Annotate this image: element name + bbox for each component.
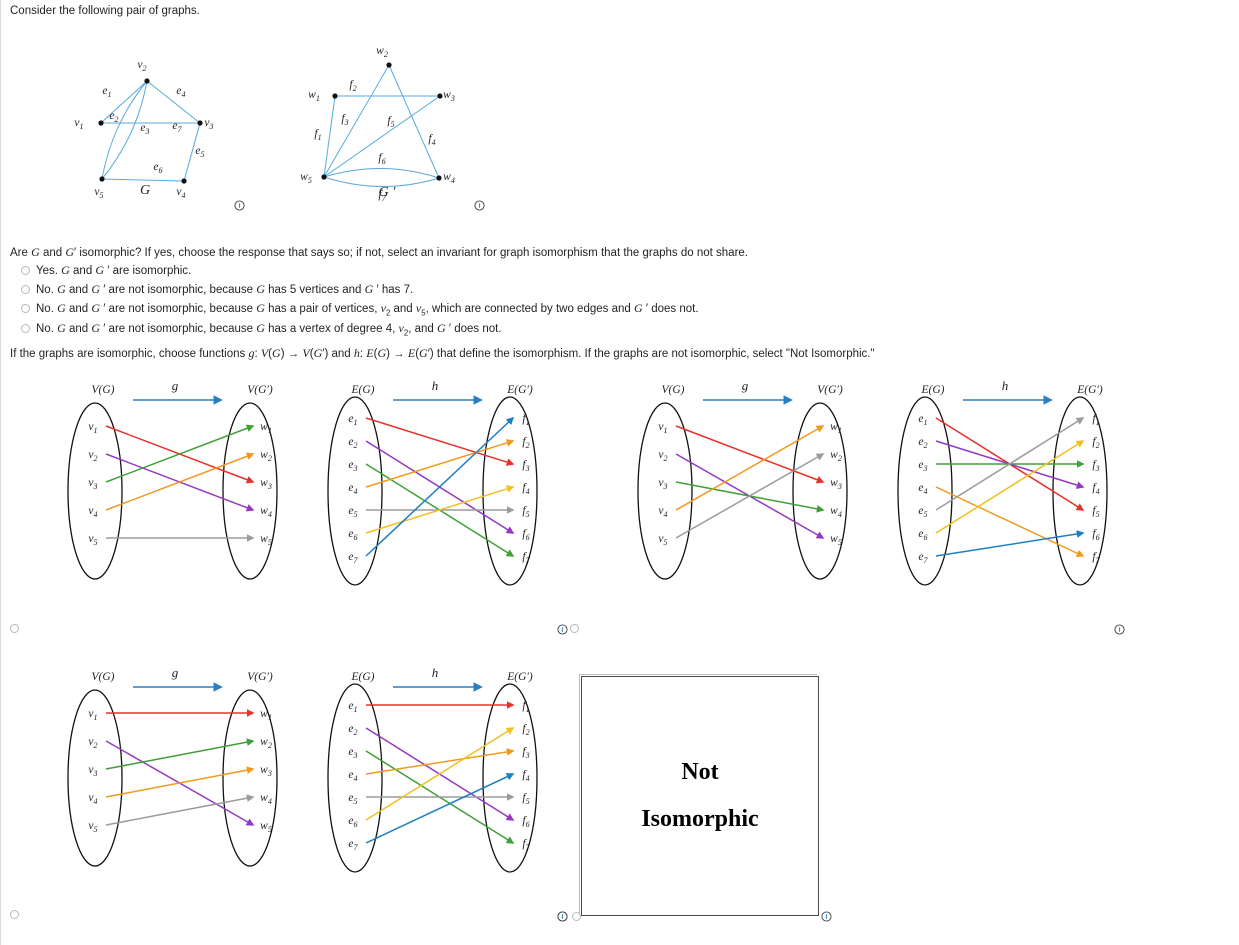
graph-vertex-label-w2: w2 xyxy=(376,45,388,59)
graph-edge-label-f4: f4 xyxy=(428,133,435,147)
mapping-right-item-w4: w4 xyxy=(830,505,842,519)
answer-option-vertex-count-label: No. G and G ′ are not isomorphic, becaus… xyxy=(36,284,413,296)
mapping-right-item-f3: f3 xyxy=(1092,459,1099,473)
radio-button-icon-degree-four[interactable] xyxy=(21,324,30,333)
answer-option-degree-four[interactable]: No. G and G ′ are not isomorphic, becaus… xyxy=(21,321,502,337)
mapping-arrow-e6-to-f2 xyxy=(936,441,1083,533)
mapping-left-item-v5: v5 xyxy=(658,533,667,547)
mapping-right-item-f3: f3 xyxy=(522,459,529,473)
mapping-arrow-e4-to-f3 xyxy=(366,751,513,774)
graph-vertex-v4 xyxy=(181,178,186,183)
mapping-function-label: h xyxy=(1002,378,1009,393)
answer-option-degree-four-label: No. G and G ′ are not isomorphic, becaus… xyxy=(36,323,502,335)
graph-vertex-v3 xyxy=(197,120,202,125)
mapping-right-item-f5: f5 xyxy=(522,505,529,519)
mapping-left-title: V(G) xyxy=(662,384,685,396)
graph-vertex-w4 xyxy=(436,175,441,180)
graph-edge-label-f5: f5 xyxy=(387,115,394,129)
graph-vertex-w3 xyxy=(437,93,442,98)
mapping-left-item-v1: v1 xyxy=(88,421,97,435)
graph-edge-label-e3: e3 xyxy=(140,122,149,136)
radio-button-icon-choice-b[interactable] xyxy=(570,620,579,638)
mapping-arrow-e4-to-f7 xyxy=(936,487,1083,556)
mapping-right-title: V(G′) xyxy=(817,384,843,396)
graph-edge-label-e6: e6 xyxy=(153,161,162,175)
radio-button-icon-choice-c[interactable] xyxy=(10,906,19,924)
graph-edge-label-f3: f3 xyxy=(341,113,348,127)
radio-button-icon-not-isomorphic[interactable] xyxy=(572,908,581,926)
mapping-right-item-w4: w4 xyxy=(260,505,272,519)
mapping-arrow-e4-to-f2 xyxy=(366,441,513,487)
graph-vertex-w5 xyxy=(321,174,326,179)
mapping-left-item-v2: v2 xyxy=(658,449,667,463)
radio-button-icon-yes[interactable] xyxy=(21,266,30,275)
info-circle-icon-graph-gprime[interactable] xyxy=(474,197,485,215)
notiso-box-shadow-top xyxy=(579,674,817,675)
mapping-arrow-v3-to-w2 xyxy=(106,741,253,769)
mapping-arrow-v5-to-w4 xyxy=(106,797,253,825)
mapping-right-item-w2: w2 xyxy=(260,449,272,463)
not-isomorphic-line1: Not xyxy=(681,749,718,796)
mapping-left-item-e6: e6 xyxy=(348,528,357,542)
answer-option-yes-label: Yes. G and G ′ are isomorphic. xyxy=(36,265,191,277)
mapping-function-label: h xyxy=(432,665,439,680)
mapping-left-item-v3: v3 xyxy=(88,764,97,778)
choice-b-vertex-mapping[interactable]: V(G)V(G′)gv1w1v2w2v3w3v4w4v5w5 xyxy=(605,378,875,603)
graph-vertex-label-w1: w1 xyxy=(308,89,320,103)
graph-vertex-label-v1: v1 xyxy=(74,117,83,131)
graph-caption: G xyxy=(140,183,150,198)
mapping-right-title: E(G′) xyxy=(1076,384,1103,396)
mapping-right-item-w3: w3 xyxy=(260,477,272,491)
mapping-arrow-v4-to-w1 xyxy=(676,426,823,510)
mapping-left-item-e4: e4 xyxy=(348,482,357,496)
mapping-left-title: V(G) xyxy=(92,671,115,683)
radio-button-icon-vertex-count[interactable] xyxy=(21,285,30,294)
mapping-right-item-f6: f6 xyxy=(1092,528,1099,542)
info-circle-icon-not-isomorphic-right[interactable] xyxy=(821,908,832,926)
graph-vertex-w2 xyxy=(386,62,391,67)
graph-edge-f4 xyxy=(389,65,439,178)
mapping-right-item-w5: w5 xyxy=(830,533,842,547)
graph-edge-label-e7: e7 xyxy=(172,120,182,134)
mapping-function-label: h xyxy=(432,378,439,393)
mapping-left-item-v1: v1 xyxy=(88,708,97,722)
mapping-left-title: E(G) xyxy=(351,384,375,396)
choice-b-edge-mapping[interactable]: E(G)E(G′)he1f1e2f2e3f3e4f4e5f5e6f6e7f7 xyxy=(865,378,1135,603)
mapping-left-item-v1: v1 xyxy=(658,421,667,435)
mapping-arrow-e7-to-f6 xyxy=(936,533,1083,556)
graph-edge-label-e5: e5 xyxy=(195,145,204,159)
graph-edge-e4 xyxy=(147,81,200,123)
mapping-right-item-f7: f7 xyxy=(1092,551,1100,565)
mapping-left-item-e5: e5 xyxy=(918,505,927,519)
mapping-arrow-v4-to-w3 xyxy=(106,769,253,797)
mapping-left-item-v2: v2 xyxy=(88,736,97,750)
radio-button-icon-choice-a[interactable] xyxy=(10,620,19,638)
graph-edge-label-f2: f2 xyxy=(349,79,356,93)
not-isomorphic-line2: Isomorphic xyxy=(641,796,758,843)
mapping-left-item-e3: e3 xyxy=(348,459,357,473)
mapping-left-item-e7: e7 xyxy=(348,838,358,852)
info-circle-icon-not-isomorphic-left[interactable] xyxy=(557,908,568,926)
graph-vertex-label-w5: w5 xyxy=(300,171,312,185)
mapping-right-item-f5: f5 xyxy=(522,792,529,806)
graph-edge-label-e1: e1 xyxy=(102,85,111,99)
choice-c-vertex-mapping[interactable]: V(G)V(G′)gv1w1v2w2v3w3v4w4v5w5 xyxy=(35,665,305,890)
mapping-right-item-f7: f7 xyxy=(522,551,530,565)
instruction-text: If the graphs are isomorphic, choose fun… xyxy=(10,346,875,361)
mapping-left-item-v5: v5 xyxy=(88,820,97,834)
info-circle-icon-choice-a[interactable] xyxy=(557,621,568,639)
graph-vertex-label-v3: v3 xyxy=(204,117,213,131)
mapping-right-item-f2: f2 xyxy=(1092,436,1099,450)
mapping-left-item-e1: e1 xyxy=(918,413,927,427)
choice-a-edge-mapping[interactable]: E(G)E(G′)he1f1e2f2e3f3e4f4e5f5e6f6e7f7 xyxy=(295,378,565,603)
mapping-right-title: E(G′) xyxy=(506,384,533,396)
mapping-left-item-e2: e2 xyxy=(918,436,927,450)
mapping-arrow-e7-to-f1 xyxy=(366,418,513,556)
mapping-left-item-v4: v4 xyxy=(658,505,667,519)
mapping-left-item-v5: v5 xyxy=(88,533,97,547)
mapping-left-item-e1: e1 xyxy=(348,413,357,427)
info-circle-icon-choice-b[interactable] xyxy=(1114,621,1125,639)
graph-vertex-label-v4: v4 xyxy=(176,186,185,200)
mapping-right-item-f2: f2 xyxy=(522,436,529,450)
mapping-right-item-w1: w1 xyxy=(260,708,272,722)
answer-option-yes[interactable]: Yes. G and G ′ are isomorphic. xyxy=(21,263,191,278)
mapping-arrow-e7-to-f4 xyxy=(366,774,513,843)
mapping-right-item-w2: w2 xyxy=(260,736,272,750)
mapping-right-item-f4: f4 xyxy=(1092,482,1099,496)
graph-vertex-label-v2: v2 xyxy=(137,59,146,73)
mapping-left-item-e3: e3 xyxy=(918,459,927,473)
graph-edge-label-f6: f6 xyxy=(378,152,385,166)
mapping-right-item-w1: w1 xyxy=(260,421,272,435)
mapping-left-item-e3: e3 xyxy=(348,746,357,760)
mapping-left-title: E(G) xyxy=(921,384,945,396)
graph-vertex-label-w4: w4 xyxy=(443,171,455,185)
graph-vertex-w1 xyxy=(332,93,337,98)
graph-edge-e1 xyxy=(101,81,147,123)
not-isomorphic-box[interactable]: Not Isomorphic xyxy=(581,676,819,916)
mapping-left-item-v3: v3 xyxy=(658,477,667,491)
mapping-right-item-f4: f4 xyxy=(522,482,529,496)
mapping-right-item-w3: w3 xyxy=(830,477,842,491)
mapping-right-item-f4: f4 xyxy=(522,769,529,783)
mapping-function-label: g xyxy=(742,378,749,393)
choice-a-vertex-mapping[interactable]: V(G)V(G′)gv1w1v2w2v3w3v4w4v5w5 xyxy=(35,378,305,603)
info-circle-icon-graph-g[interactable] xyxy=(234,197,245,215)
mapping-left-item-e2: e2 xyxy=(348,436,357,450)
mapping-right-item-w2: w2 xyxy=(830,449,842,463)
graph-vertex-v2 xyxy=(144,78,149,83)
mapping-left-item-e2: e2 xyxy=(348,723,357,737)
mapping-left-item-e4: e4 xyxy=(348,769,357,783)
mapping-right-title: E(G′) xyxy=(506,671,533,683)
graph-vertex-label-v5: v5 xyxy=(94,186,103,200)
graph-edge-f6 xyxy=(324,168,439,178)
graph-vertex-v5 xyxy=(99,176,104,181)
mapping-right-item-f5: f5 xyxy=(1092,505,1099,519)
mapping-function-label: g xyxy=(172,378,179,393)
mapping-right-title: V(G′) xyxy=(247,384,273,396)
graph-figure-pair: e1e2e3e4e5e6e7v1v2v3v4v5Gf1f2f3f4f5f6f7w… xyxy=(1,18,521,218)
mapping-right-item-w5: w5 xyxy=(260,820,272,834)
mapping-right-item-f6: f6 xyxy=(522,528,529,542)
mapping-right-item-w4: w4 xyxy=(260,792,272,806)
mapping-function-label: g xyxy=(172,665,179,680)
graph-edge-label-e4: e4 xyxy=(176,85,185,99)
mapping-right-item-w5: w5 xyxy=(260,533,272,547)
mapping-right-item-f3: f3 xyxy=(522,746,529,760)
graph-vertex-v1 xyxy=(98,120,103,125)
mapping-left-title: E(G) xyxy=(351,671,375,683)
mapping-right-title: V(G′) xyxy=(247,671,273,683)
answer-option-multi-edge-label: No. G and G ′ are not isomorphic, becaus… xyxy=(36,303,699,315)
mapping-left-title: V(G) xyxy=(92,384,115,396)
mapping-left-item-e6: e6 xyxy=(918,528,927,542)
graph-edge-label-e2: e2 xyxy=(109,110,118,124)
graph-edge-e6 xyxy=(102,179,184,181)
mapping-left-item-e7: e7 xyxy=(918,551,928,565)
graph-edge-label-f1: f1 xyxy=(314,128,321,142)
graph-caption: G ′ xyxy=(379,185,397,200)
choice-c-edge-mapping[interactable]: E(G)E(G′)he1f1e2f2e3f3e4f4e5f5e6f6e7f7 xyxy=(295,665,565,890)
mapping-right-item-w1: w1 xyxy=(830,421,842,435)
mapping-left-item-v4: v4 xyxy=(88,505,97,519)
mapping-arrow-v1-to-w3 xyxy=(676,426,823,482)
mapping-left-item-e5: e5 xyxy=(348,505,357,519)
mapping-right-item-f2: f2 xyxy=(522,723,529,737)
question-text: Are G and G′ isomorphic? If yes, choose … xyxy=(10,245,748,260)
answer-option-multi-edge[interactable]: No. G and G ′ are not isomorphic, becaus… xyxy=(21,301,699,317)
mapping-left-item-e4: e4 xyxy=(918,482,927,496)
graph-edge-f1 xyxy=(324,96,335,177)
mapping-left-item-v3: v3 xyxy=(88,477,97,491)
mapping-right-item-f6: f6 xyxy=(522,815,529,829)
mapping-right-item-f7: f7 xyxy=(522,838,530,852)
answer-option-vertex-count[interactable]: No. G and G ′ are not isomorphic, becaus… xyxy=(21,282,413,297)
mapping-left-item-e1: e1 xyxy=(348,700,357,714)
mapping-right-item-w3: w3 xyxy=(260,764,272,778)
radio-button-icon-multi-edge[interactable] xyxy=(21,304,30,313)
notiso-box-shadow-left xyxy=(579,674,580,914)
mapping-left-item-e7: e7 xyxy=(348,551,358,565)
mapping-left-item-e6: e6 xyxy=(348,815,357,829)
mapping-left-item-v2: v2 xyxy=(88,449,97,463)
mapping-left-item-e5: e5 xyxy=(348,792,357,806)
graph-vertex-label-w3: w3 xyxy=(443,89,455,103)
mapping-left-item-v4: v4 xyxy=(88,792,97,806)
